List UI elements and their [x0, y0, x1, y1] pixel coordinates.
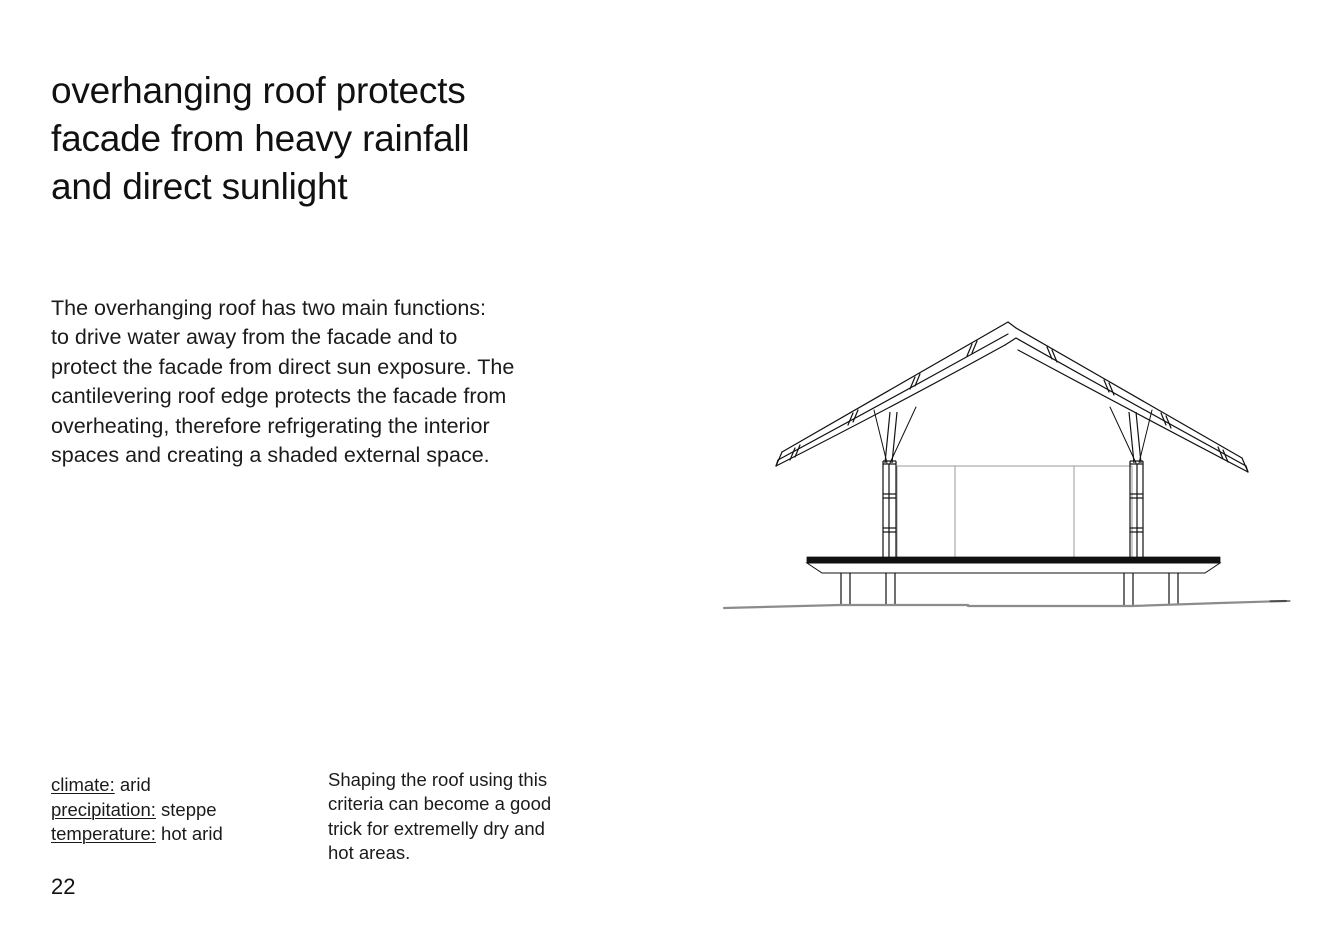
interior-panel-group	[897, 466, 1132, 558]
metadata-value-climate-text: arid	[120, 774, 151, 795]
metadata-row-precipitation: precipitation: steppe	[51, 798, 311, 823]
left-brace-inner	[890, 407, 916, 463]
upper-post-group	[885, 412, 1141, 463]
ground-line-far-left	[724, 605, 840, 608]
floor-slab-group	[807, 557, 1220, 573]
metadata-label-precipitation: precipitation:	[51, 799, 156, 820]
climate-metadata: climate: arid precipitation: steppe temp…	[51, 773, 311, 847]
ridge-inner-left	[1005, 338, 1016, 345]
floor-slab-body	[807, 563, 1220, 573]
ground-line-group	[724, 601, 1290, 608]
page-number: 22	[51, 873, 75, 901]
metadata-label-temperature: temperature:	[51, 823, 156, 844]
ridge-cap-left	[1008, 322, 1016, 328]
metadata-row-temperature: temperature: hot arid	[51, 822, 311, 847]
building-section-figure	[700, 300, 1310, 630]
figure-caption: Shaping the roof using this criteria can…	[328, 768, 578, 866]
brace-group	[874, 407, 1152, 463]
left-batten-3b	[853, 410, 858, 422]
metadata-label-climate: climate:	[51, 774, 115, 795]
right-roof-top-line	[1016, 328, 1242, 458]
page-title: overhanging roof protects facade from he…	[51, 67, 671, 211]
right-brace-inner	[1110, 407, 1136, 463]
left-roof-soffit-line	[776, 345, 1005, 466]
document-page: overhanging roof protects facade from he…	[0, 0, 1330, 942]
ground-line-right	[1132, 603, 1220, 606]
metadata-value-precipitation-text: steppe	[161, 799, 217, 820]
body-paragraph: The overhanging roof has two main functi…	[51, 294, 606, 472]
metadata-value-temperature-text: hot arid	[161, 823, 223, 844]
right-batten-2b	[1104, 380, 1109, 392]
metadata-row-climate: climate: arid	[51, 773, 311, 798]
right-roof-rafter-line	[1016, 338, 1246, 466]
column-group	[883, 461, 1143, 558]
building-section-svg	[700, 300, 1310, 630]
right-batten-2	[1109, 383, 1114, 395]
left-roof-rafter-line	[778, 334, 1008, 460]
left-brace-outer	[874, 410, 887, 463]
left-upper-post-a	[885, 412, 890, 463]
stilt-group	[841, 573, 1178, 605]
floor-slab-top	[807, 557, 1220, 563]
right-upper-post-a	[1136, 412, 1141, 463]
roof-group	[776, 322, 1248, 472]
left-upper-post-b	[892, 412, 897, 463]
right-upper-post-b	[1129, 412, 1134, 463]
